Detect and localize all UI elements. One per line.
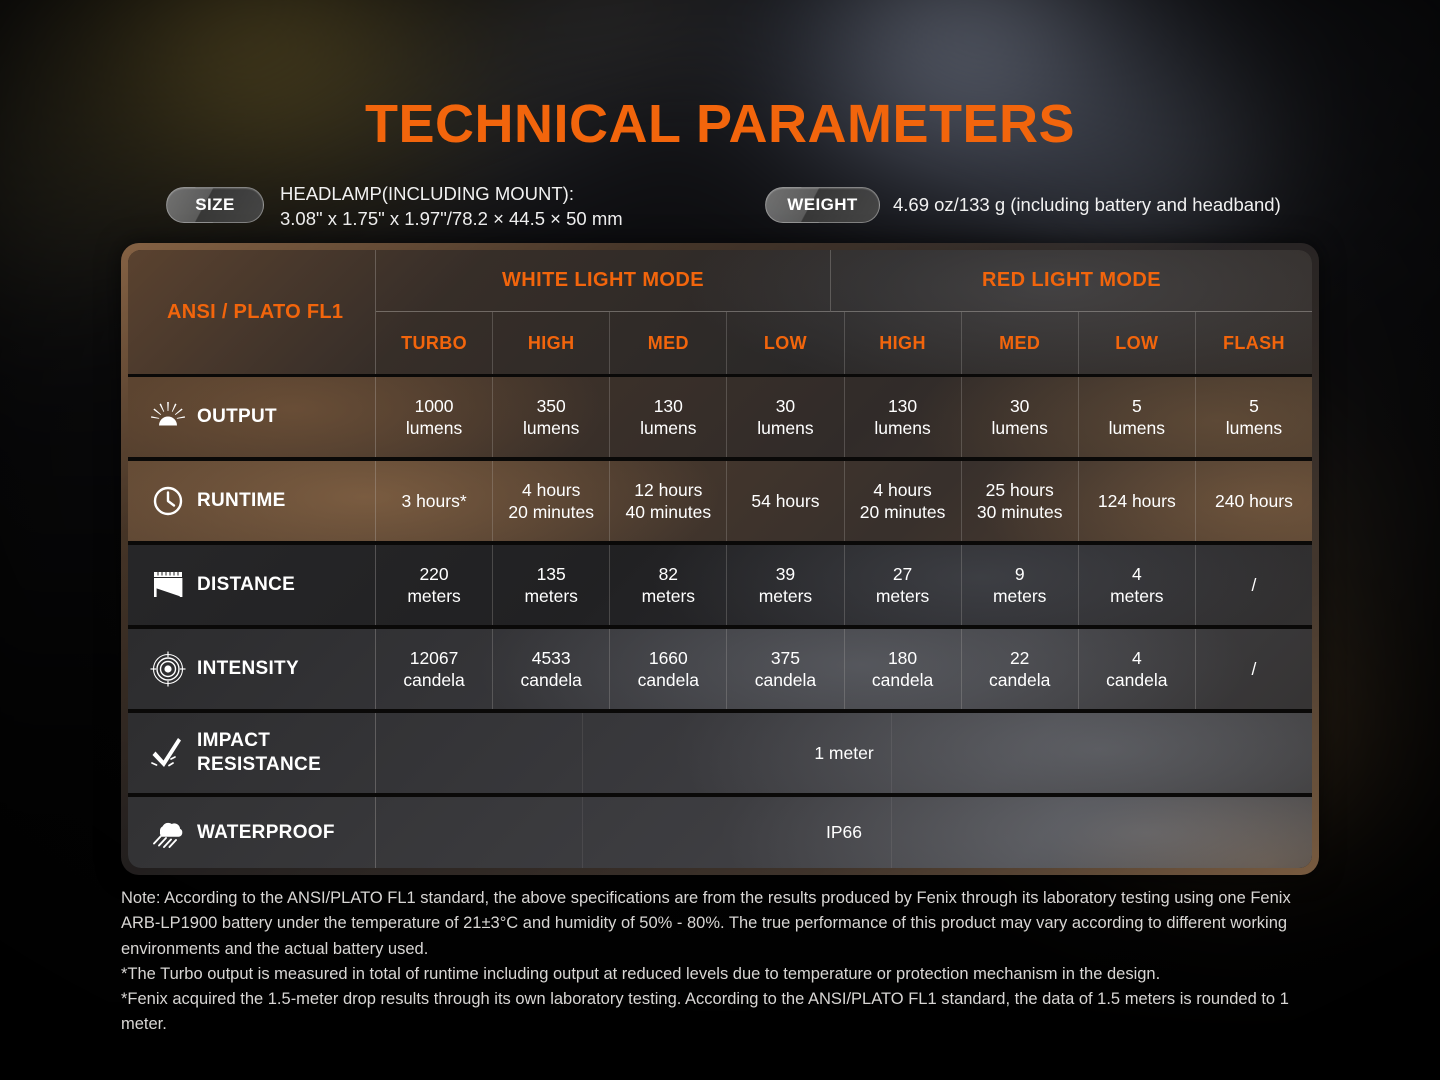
ruler-beam-icon xyxy=(148,569,188,601)
cell-unit: candela xyxy=(872,669,933,691)
cell-unit: candela xyxy=(1106,669,1167,691)
cell-runtime-turbo-white: 3 hours* xyxy=(376,461,493,541)
mode-group-row: WHITE LIGHT MODE RED LIGHT MODE xyxy=(376,250,1312,312)
mode-high-red: HIGH xyxy=(845,312,962,374)
cell-intensity-low-white: 375 candela xyxy=(727,629,844,709)
page-title: TECHNICAL PARAMETERS xyxy=(0,97,1440,151)
row-label-intensity: INTENSITY xyxy=(128,629,376,709)
ansi-plato-label: ANSI / PLATO FL1 xyxy=(128,301,343,324)
cell-value: 82 xyxy=(659,563,678,585)
row-label-impact-resistance: IMPACT RESISTANCE xyxy=(128,713,376,793)
cell-value: 4 hours xyxy=(522,479,580,501)
cell-distance-low-red: 4 meters xyxy=(1079,545,1196,625)
sunburst-icon xyxy=(148,402,188,432)
cell-value: 375 xyxy=(771,647,800,669)
cell-intensity-med-red: 22 candela xyxy=(962,629,1079,709)
cell-distance-high-red: 27 meters xyxy=(845,545,962,625)
cell-unit: 40 minutes xyxy=(626,501,712,523)
cell-unit: meters xyxy=(407,585,460,607)
rain-cloud-icon xyxy=(148,818,188,848)
cell-value: 4 xyxy=(1132,647,1142,669)
row-label-text-runtime: RUNTIME xyxy=(188,489,286,513)
mode-high-white: HIGH xyxy=(493,312,610,374)
cell-unit: candela xyxy=(638,669,699,691)
cell-value: 180 xyxy=(888,647,917,669)
cell-unit: candela xyxy=(403,669,464,691)
cell-distance-high-white: 135 meters xyxy=(493,545,610,625)
merged-value-text: 1 meter xyxy=(814,743,873,764)
row-label-runtime: RUNTIME xyxy=(128,461,376,541)
footnotes: Note: According to the ANSI/PLATO FL1 st… xyxy=(121,886,1321,1038)
row-label-waterproof: WATERPROOF xyxy=(128,797,376,868)
table-row-impact-resistance: IMPACT RESISTANCE 1 meter xyxy=(128,713,1312,793)
cell-value: 1660 xyxy=(649,647,688,669)
size-badge: SIZE xyxy=(166,187,264,223)
size-value: HEADLAMP(INCLUDING MOUNT): 3.08" x 1.75"… xyxy=(280,181,623,231)
mode-flash-red: FLASH xyxy=(1196,312,1312,374)
cell-unit: lumens xyxy=(991,417,1047,439)
cell-value: 4 xyxy=(1132,563,1142,585)
cell-output-high-red: 130 lumens xyxy=(845,377,962,457)
row-label-output: OUTPUT xyxy=(128,377,376,457)
cell-unit: lumens xyxy=(406,417,462,439)
cell-value: 135 xyxy=(537,563,566,585)
mode-med-white: MED xyxy=(610,312,727,374)
cell-waterproof-value: IP66 xyxy=(376,797,1312,868)
cell-value: 240 hours xyxy=(1215,490,1293,512)
spec-summary-row: SIZE HEADLAMP(INCLUDING MOUNT): 3.08" x … xyxy=(166,184,1326,240)
cell-unit: candela xyxy=(755,669,816,691)
cell-distance-flash-red: / xyxy=(1196,545,1312,625)
cell-runtime-flash-red: 240 hours xyxy=(1196,461,1312,541)
footnote-standard: Note: According to the ANSI/PLATO FL1 st… xyxy=(121,886,1321,962)
cell-value: 39 xyxy=(776,563,795,585)
cell-value: 12067 xyxy=(410,647,459,669)
cell-value: 130 xyxy=(654,395,683,417)
cell-unit: meters xyxy=(993,585,1046,607)
row-label-text-distance: DISTANCE xyxy=(188,573,295,597)
cell-intensity-high-red: 180 candela xyxy=(845,629,962,709)
mode-header-area: WHITE LIGHT MODE RED LIGHT MODE TURBO HI… xyxy=(376,250,1312,374)
table-row-output: OUTPUT 1000 lumens 350 lumens 130 lumens… xyxy=(128,377,1312,457)
mode-med-red: MED xyxy=(962,312,1079,374)
cell-value: 220 xyxy=(419,563,448,585)
merged-value-text: IP66 xyxy=(826,822,862,843)
cell-value: 124 hours xyxy=(1098,490,1176,512)
spec-table-frame: ANSI / PLATO FL1 WHITE LIGHT MODE RED LI… xyxy=(121,243,1319,875)
cell-output-high-white: 350 lumens xyxy=(493,377,610,457)
cell-value: 4 hours xyxy=(873,479,931,501)
cell-distance-med-white: 82 meters xyxy=(610,545,727,625)
cell-value: 5 xyxy=(1132,395,1142,417)
weight-badge: WEIGHT xyxy=(765,187,880,223)
cell-output-flash-red: 5 lumens xyxy=(1196,377,1312,457)
cell-runtime-med-white: 12 hours 40 minutes xyxy=(610,461,727,541)
table-row-waterproof: WATERPROOF IP66 xyxy=(128,797,1312,868)
cell-intensity-turbo-white: 12067 candela xyxy=(376,629,493,709)
mode-low-white: LOW xyxy=(727,312,844,374)
cell-unit: lumens xyxy=(1109,417,1165,439)
mode-turbo-white: TURBO xyxy=(376,312,493,374)
cell-unit: meters xyxy=(1110,585,1163,607)
row-label-distance: DISTANCE xyxy=(128,545,376,625)
spec-table: ANSI / PLATO FL1 WHITE LIGHT MODE RED LI… xyxy=(128,250,1312,868)
cell-output-turbo-white: 1000 lumens xyxy=(376,377,493,457)
cell-value: 130 xyxy=(888,395,917,417)
footnote-drop: *Fenix acquired the 1.5-meter drop resul… xyxy=(121,987,1321,1038)
cell-value: 9 xyxy=(1015,563,1025,585)
cell-unit: meters xyxy=(759,585,812,607)
cell-value: 22 xyxy=(1010,647,1029,669)
cell-unit: candela xyxy=(521,669,582,691)
cell-unit: lumens xyxy=(640,417,696,439)
impact-arrow-icon xyxy=(148,736,188,770)
cell-runtime-high-white: 4 hours 20 minutes xyxy=(493,461,610,541)
cell-distance-med-red: 9 meters xyxy=(962,545,1079,625)
cell-runtime-med-red: 25 hours 30 minutes xyxy=(962,461,1079,541)
clock-icon xyxy=(148,485,188,517)
cell-intensity-high-white: 4533 candela xyxy=(493,629,610,709)
cell-impact-value: 1 meter xyxy=(376,713,1312,793)
cell-runtime-low-white: 54 hours xyxy=(727,461,844,541)
mode-low-red: LOW xyxy=(1079,312,1196,374)
cell-value: 30 xyxy=(776,395,795,417)
row-label-text-impact: IMPACT RESISTANCE xyxy=(188,729,321,777)
cell-output-med-red: 30 lumens xyxy=(962,377,1079,457)
weight-value: 4.69 oz/133 g (including battery and hea… xyxy=(893,192,1281,217)
row-label-text-output: OUTPUT xyxy=(188,405,277,429)
cell-value: / xyxy=(1252,574,1257,596)
table-row-intensity: INTENSITY 12067 candela 4533 candela 166… xyxy=(128,629,1312,709)
table-header-row: ANSI / PLATO FL1 WHITE LIGHT MODE RED LI… xyxy=(128,250,1312,374)
cell-value: 25 hours xyxy=(986,479,1054,501)
cell-value: 5 xyxy=(1249,395,1259,417)
cell-value: 3 hours* xyxy=(401,490,466,512)
cell-value: 4533 xyxy=(532,647,571,669)
table-row-runtime: RUNTIME 3 hours* 4 hours 20 minutes 12 h… xyxy=(128,461,1312,541)
group-white-light-mode: WHITE LIGHT MODE xyxy=(376,250,831,312)
cell-distance-turbo-white: 220 meters xyxy=(376,545,493,625)
cell-output-low-white: 30 lumens xyxy=(727,377,844,457)
cell-unit: 20 minutes xyxy=(860,501,946,523)
cell-distance-low-white: 39 meters xyxy=(727,545,844,625)
cell-unit: candela xyxy=(989,669,1050,691)
footnote-turbo: *The Turbo output is measured in total o… xyxy=(121,962,1321,987)
table-corner-label-cell: ANSI / PLATO FL1 xyxy=(128,250,376,374)
cell-unit: lumens xyxy=(757,417,813,439)
cell-unit: meters xyxy=(642,585,695,607)
cell-unit: 30 minutes xyxy=(977,501,1063,523)
mode-name-row: TURBO HIGH MED LOW HIGH MED LOW FLASH xyxy=(376,312,1312,374)
table-row-distance: DISTANCE 220 meters 135 meters 82 meters… xyxy=(128,545,1312,625)
cell-intensity-med-white: 1660 candela xyxy=(610,629,727,709)
cell-value: 54 hours xyxy=(751,490,819,512)
cell-value: 350 xyxy=(537,395,566,417)
cell-value: 30 xyxy=(1010,395,1029,417)
cell-unit: 20 minutes xyxy=(508,501,594,523)
cell-runtime-high-red: 4 hours 20 minutes xyxy=(845,461,962,541)
row-label-text-waterproof: WATERPROOF xyxy=(188,821,335,845)
cell-unit: lumens xyxy=(1226,417,1282,439)
cell-value: / xyxy=(1252,658,1257,680)
cell-output-low-red: 5 lumens xyxy=(1079,377,1196,457)
cell-unit: meters xyxy=(876,585,929,607)
cell-unit: lumens xyxy=(874,417,930,439)
cell-runtime-low-red: 124 hours xyxy=(1079,461,1196,541)
cell-unit: meters xyxy=(524,585,577,607)
target-icon xyxy=(148,651,188,687)
cell-intensity-low-red: 4 candela xyxy=(1079,629,1196,709)
cell-unit: lumens xyxy=(523,417,579,439)
cell-intensity-flash-red: / xyxy=(1196,629,1312,709)
cell-value: 12 hours xyxy=(634,479,702,501)
cell-value: 1000 xyxy=(415,395,454,417)
row-label-text-intensity: INTENSITY xyxy=(188,657,299,681)
cell-output-med-white: 130 lumens xyxy=(610,377,727,457)
group-red-light-mode: RED LIGHT MODE xyxy=(831,250,1312,312)
cell-value: 27 xyxy=(893,563,912,585)
